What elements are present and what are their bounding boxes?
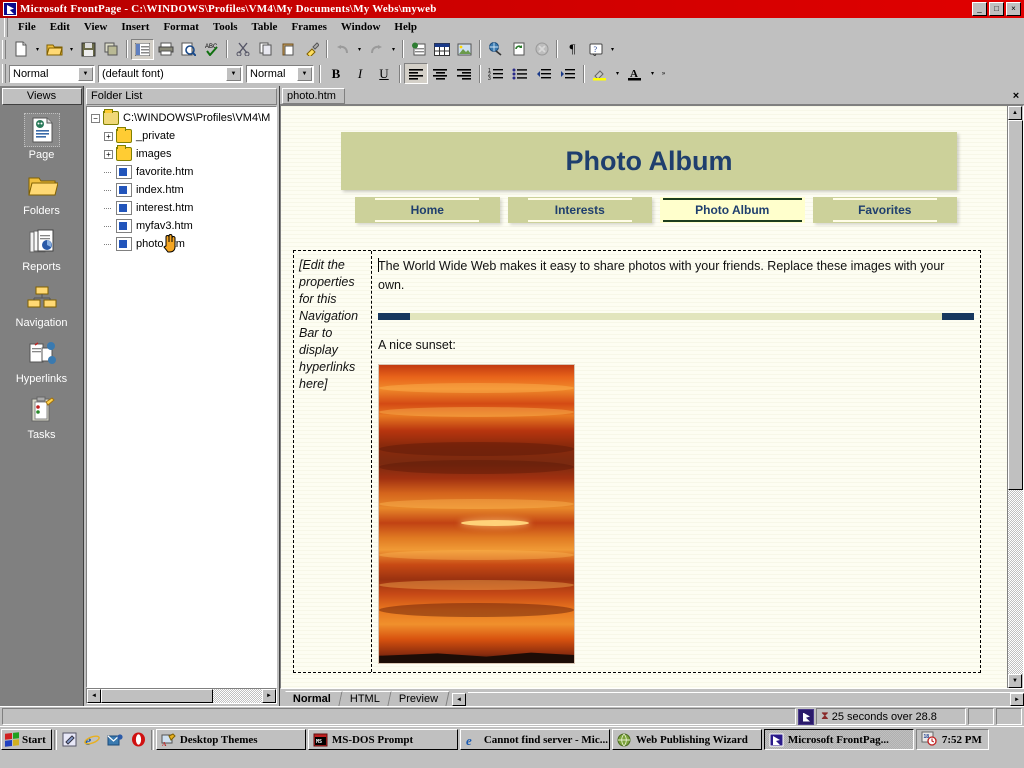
chevron-down-icon[interactable]: ▼: [297, 67, 312, 81]
tree-label: interest.htm: [136, 202, 193, 214]
wizard-icon: [617, 733, 632, 747]
italic-button[interactable]: I: [348, 63, 372, 84]
tab-scroll-left-button[interactable]: ◄: [452, 693, 466, 706]
expand-toggle-icon[interactable]: +: [104, 150, 113, 159]
tree-label: favorite.htm: [136, 166, 193, 178]
folder-list-hscrollbar[interactable]: ◄ ►: [86, 688, 277, 704]
title-bar: Microsoft FrontPage - C:\WINDOWS\Profile…: [0, 0, 1024, 18]
internet-explorer-icon[interactable]: e: [82, 729, 103, 750]
refresh-button[interactable]: [507, 39, 530, 60]
save-button[interactable]: [77, 39, 100, 60]
collapse-toggle-icon[interactable]: −: [91, 114, 100, 123]
scheduler-icon[interactable]: 18: [921, 731, 937, 749]
taskbar-item-label: MS-DOS Prompt: [332, 734, 413, 746]
standard-toolbar-grip[interactable]: [2, 40, 6, 59]
publish-web-button[interactable]: [100, 39, 123, 60]
new-page-dropdown-icon[interactable]: ▾: [32, 39, 43, 60]
tasks-view-icon: [24, 393, 60, 427]
scroll-thumb[interactable]: [101, 689, 213, 703]
toolbar-separator-5: [479, 40, 481, 58]
menu-bar: File Edit View Insert Format Tools Table…: [0, 18, 1024, 37]
sidebar-item-label: Navigation: [16, 317, 68, 329]
expand-toggle-icon[interactable]: +: [104, 132, 113, 141]
tab-label: Preview: [399, 693, 438, 705]
folder-list-header: Folder List: [86, 88, 277, 105]
svg-text:e: e: [466, 733, 472, 747]
font-color-button[interactable]: A: [623, 63, 647, 84]
decrease-indent-button[interactable]: [532, 63, 556, 84]
menu-item-file[interactable]: File: [11, 19, 43, 35]
tab-bar-filler: ►: [468, 692, 1024, 706]
toolbar-separator: [126, 40, 128, 58]
show-desktop-icon[interactable]: [59, 729, 80, 750]
page-layout-table: [Edit the properties for this Navigation…: [293, 250, 981, 673]
insert-table-button[interactable]: [430, 39, 453, 60]
start-button[interactable]: Start: [1, 729, 52, 750]
format-separator-3: [479, 65, 481, 83]
tab-preview[interactable]: Preview: [388, 691, 449, 706]
main-area: Views Page Folders Reports Navigation: [0, 86, 1024, 706]
menu-grip[interactable]: [4, 18, 8, 37]
maximize-button[interactable]: □: [989, 2, 1004, 16]
document-tab-bar: photo.htm ×: [280, 88, 1024, 105]
themes-icon: A: [161, 733, 176, 747]
tree-label: _private: [136, 130, 175, 142]
align-right-button[interactable]: [452, 63, 476, 84]
tree-connector: [104, 172, 112, 173]
html-page-icon: [116, 201, 132, 215]
redo-dropdown-icon[interactable]: ▾: [388, 39, 399, 60]
taskbar-item-label: Cannot find server - Mic...: [484, 734, 608, 746]
document-body: Photo Album Home Interests Photo Album F…: [280, 105, 1024, 689]
navigation-bar-placeholder-cell[interactable]: [Edit the properties for this Navigation…: [294, 251, 372, 672]
scroll-track[interactable]: [213, 689, 262, 703]
format-separator-2: [399, 65, 401, 83]
page-banner[interactable]: Photo Album: [341, 132, 957, 190]
views-bar-header: Views: [2, 88, 82, 105]
close-button[interactable]: ×: [1006, 2, 1021, 16]
insert-component-button[interactable]: [407, 39, 430, 60]
underline-label: U: [379, 66, 388, 82]
navigation-view-icon: [24, 281, 60, 315]
status-bar: ⧗ 25 seconds over 28.8: [0, 706, 1024, 726]
page-intro-paragraph[interactable]: The World Wide Web makes it easy to shar…: [378, 257, 974, 295]
stop-button[interactable]: [530, 39, 553, 60]
page-main-cell[interactable]: The World Wide Web makes it easy to shar…: [372, 251, 980, 672]
format-painter-button[interactable]: [300, 39, 323, 60]
tree-connector: [104, 190, 112, 191]
help-button[interactable]: ?: [584, 39, 607, 60]
scroll-thumb[interactable]: [1008, 120, 1023, 490]
taskbar-item-label: Microsoft FrontPag...: [788, 734, 889, 746]
font-combo[interactable]: (default font) ▼: [98, 65, 243, 83]
svg-text:MS: MS: [316, 739, 322, 745]
open-folder-icon: [103, 111, 119, 125]
page-navigation-bar: Home Interests Photo Album Favorites: [355, 197, 957, 223]
menu-item-format[interactable]: Format: [156, 19, 205, 35]
svg-text:?: ?: [593, 45, 597, 54]
hourglass-icon: ⧗: [821, 710, 829, 723]
frontpage-icon: [798, 709, 814, 725]
scroll-left-arrow[interactable]: ◄: [87, 689, 101, 703]
show-all-button[interactable]: ¶: [561, 39, 584, 60]
folders-view-icon: [24, 169, 60, 203]
document-vscrollbar[interactable]: ▲ ▼: [1007, 106, 1023, 688]
hyperlinks-view-icon: [24, 337, 60, 371]
tree-row-index-htm[interactable]: index.htm: [87, 181, 276, 199]
photo-caption: A nice sunset:: [378, 338, 974, 352]
hr-middle: [410, 313, 942, 320]
format-separator-4: [583, 65, 585, 83]
hr-right-cap: [942, 313, 974, 320]
format-separator-1: [319, 65, 321, 83]
outlook-express-icon[interactable]: [105, 729, 126, 750]
italic-label: I: [358, 66, 362, 82]
nav-button-interests[interactable]: Interests: [508, 197, 653, 223]
scroll-right-arrow[interactable]: ►: [262, 689, 276, 703]
insert-picture-button[interactable]: [453, 39, 476, 60]
font-size-combo-value: Normal: [250, 68, 285, 80]
menu-item-window[interactable]: Window: [334, 19, 388, 35]
tree-row-private[interactable]: + _private: [87, 127, 276, 145]
highlight-dropdown-icon[interactable]: ▾: [612, 63, 623, 84]
sidebar-item-hyperlinks[interactable]: Hyperlinks: [2, 337, 82, 385]
folder-list-tree[interactable]: − C:\WINDOWS\Profiles\VM4\M + _private +…: [86, 106, 277, 688]
nav-button-favorites[interactable]: Favorites: [813, 197, 958, 223]
svg-text:3: 3: [488, 76, 491, 80]
msdos-icon: MS: [313, 733, 328, 747]
chevron-down-icon[interactable]: ▼: [78, 67, 93, 81]
numbered-list-button[interactable]: 123: [484, 63, 508, 84]
formatting-toolbar-grip[interactable]: [2, 64, 6, 83]
sidebar-item-navigation[interactable]: Navigation: [2, 281, 82, 329]
view-tab-bar: Normal HTML Preview ◄ ►: [280, 689, 1024, 706]
print-button[interactable]: [154, 39, 177, 60]
tab-html[interactable]: HTML: [339, 691, 391, 706]
tree-connector: [104, 244, 112, 245]
sun-streak: [461, 520, 529, 526]
tab-normal[interactable]: Normal: [282, 691, 342, 706]
help-dropdown-icon[interactable]: ▾: [607, 39, 618, 60]
scroll-track[interactable]: [1008, 490, 1023, 674]
frontpage-icon: [769, 733, 784, 747]
window-title: Microsoft FrontPage - C:\WINDOWS\Profile…: [20, 3, 972, 15]
sidebar-item-label: Tasks: [27, 429, 55, 441]
taskbar-item-desktop-themes[interactable]: A Desktop Themes: [156, 729, 306, 750]
folder-list-toggle-button[interactable]: [131, 39, 154, 60]
folder-icon: [116, 147, 132, 161]
views-bar: Views Page Folders Reports Navigation: [0, 86, 84, 706]
tree-connector: [104, 226, 112, 227]
standard-toolbar: ▾ ▾ ABC ▾ ▾: [0, 37, 1024, 61]
document-pane: photo.htm × Photo Album Home Interests: [280, 86, 1024, 706]
sidebar-item-page[interactable]: Page: [2, 113, 82, 161]
sidebar-item-folders[interactable]: Folders: [2, 169, 82, 217]
nav-button-home[interactable]: Home: [355, 197, 500, 223]
bold-label: B: [332, 66, 341, 82]
html-page-icon: [116, 219, 132, 233]
page-banner-title: Photo Album: [566, 146, 733, 177]
copy-button[interactable]: [254, 39, 277, 60]
undo-dropdown-icon[interactable]: ▾: [354, 39, 365, 60]
start-button-label: Start: [22, 734, 46, 746]
increase-indent-button[interactable]: [556, 63, 580, 84]
tree-row-photo-htm[interactable]: photo.htm: [87, 235, 276, 253]
style-combo[interactable]: Normal ▼: [9, 65, 95, 83]
pilcrow-icon: ¶: [570, 41, 576, 57]
taskbar-item-microsoft-frontpage[interactable]: Microsoft FrontPag...: [764, 729, 914, 750]
menu-item-help[interactable]: Help: [387, 19, 424, 35]
new-page-button[interactable]: [9, 39, 32, 60]
download-time-text: 25 seconds over 28.8: [832, 711, 937, 723]
status-message-panel: [2, 708, 796, 725]
download-time-panel[interactable]: ⧗ 25 seconds over 28.8: [816, 708, 966, 725]
page-intro-text: The World Wide Web makes it easy to shar…: [378, 259, 944, 292]
menu-item-view[interactable]: View: [77, 19, 114, 35]
nav-button-photo-album[interactable]: Photo Album: [660, 197, 805, 223]
svg-text:A: A: [162, 742, 167, 747]
sidebar-item-label: Page: [29, 149, 55, 161]
system-tray: 18 7:52 PM: [916, 729, 989, 750]
taskbar-separator-2: [151, 730, 154, 750]
sidebar-item-tasks[interactable]: Tasks: [2, 393, 82, 441]
sidebar-item-reports[interactable]: Reports: [2, 225, 82, 273]
tree-label: images: [136, 148, 171, 160]
nav-button-label: Home: [411, 203, 444, 217]
menu-item-tools[interactable]: Tools: [206, 19, 245, 35]
tab-label: HTML: [350, 693, 380, 705]
bold-button[interactable]: B: [324, 63, 348, 84]
status-panel-extra-2: [996, 708, 1022, 725]
open-button[interactable]: [43, 39, 66, 60]
horizontal-rule: [378, 313, 974, 320]
status-panel-extra-1: [968, 708, 994, 725]
clock[interactable]: 7:52 PM: [942, 734, 982, 746]
redo-button[interactable]: [365, 39, 388, 60]
page-canvas[interactable]: Photo Album Home Interests Photo Album F…: [281, 106, 1007, 688]
frontpage-icon: [3, 2, 17, 16]
sunset-photo[interactable]: [378, 364, 575, 664]
tree-row-favorite-htm[interactable]: favorite.htm: [87, 163, 276, 181]
taskbar-item-label: Web Publishing Wizard: [636, 734, 748, 746]
menu-item-frames[interactable]: Frames: [284, 19, 333, 35]
window-controls: _ □ ×: [972, 2, 1023, 16]
tree-label-root: C:\WINDOWS\Profiles\VM4\M: [123, 112, 270, 124]
tree-connector: [104, 208, 112, 209]
sidebar-item-label: Reports: [22, 261, 61, 273]
tree-row-images[interactable]: + images: [87, 145, 276, 163]
paste-button[interactable]: [277, 39, 300, 60]
sidebar-item-label: Folders: [23, 205, 60, 217]
font-color-dropdown-icon[interactable]: ▾: [647, 63, 658, 84]
tree-label: index.htm: [136, 184, 184, 196]
taskbar: Start e A Desktop Themes MS MS-DOS Promp…: [0, 726, 1024, 752]
menu-item-edit[interactable]: Edit: [43, 19, 77, 35]
minimize-button[interactable]: _: [972, 2, 987, 16]
font-size-combo[interactable]: Normal ▼: [246, 65, 314, 83]
tree-row-myfav3-htm[interactable]: myfav3.htm: [87, 217, 276, 235]
close-document-button[interactable]: ×: [1008, 90, 1024, 102]
page-view-icon: [24, 113, 60, 147]
style-combo-value: Normal: [13, 68, 48, 80]
menu-item-insert[interactable]: Insert: [114, 19, 156, 35]
hand-cursor-icon: [161, 233, 179, 253]
opera-icon[interactable]: [128, 729, 149, 750]
html-page-icon: [116, 165, 132, 179]
highlight-color-button[interactable]: [588, 63, 612, 84]
toolbar-separator-6: [556, 40, 558, 58]
more-buttons-icon[interactable]: »: [658, 63, 669, 84]
align-left-button[interactable]: [404, 63, 428, 84]
horizon-silhouette: [379, 647, 574, 663]
formatting-toolbar: Normal ▼ (default font) ▼ Normal ▼ B I U…: [0, 61, 1024, 86]
taskbar-item-cannot-find-server[interactable]: e Cannot find server - Mic...: [460, 729, 610, 750]
folder-icon: [116, 129, 132, 143]
open-dropdown-icon[interactable]: ▾: [66, 39, 77, 60]
nav-button-label: Favorites: [858, 203, 911, 217]
toolbar-separator-2: [226, 40, 228, 58]
nav-button-label: Interests: [555, 203, 605, 217]
document-tab-photo-htm[interactable]: photo.htm: [282, 88, 345, 104]
folder-list-pane: Folder List − C:\WINDOWS\Profiles\VM4\M …: [84, 86, 280, 706]
cut-button[interactable]: [231, 39, 254, 60]
chevron-down-icon[interactable]: ▼: [226, 67, 241, 81]
sidebar-item-label: Hyperlinks: [16, 373, 67, 385]
spelling-button[interactable]: ABC: [200, 39, 223, 60]
font-combo-value: (default font): [102, 68, 164, 80]
taskbar-item-web-publishing-wizard[interactable]: Web Publishing Wizard: [612, 729, 762, 750]
taskbar-item-label: Desktop Themes: [180, 734, 258, 746]
print-preview-button[interactable]: [177, 39, 200, 60]
hr-left-cap: [378, 313, 410, 320]
navigation-bar-placeholder-text: [Edit the properties for this Navigation…: [299, 258, 358, 391]
toolbar-separator-4: [402, 40, 404, 58]
taskbar-separator-1: [54, 730, 57, 750]
tree-label: myfav3.htm: [136, 220, 193, 232]
tree-row-interest-htm[interactable]: interest.htm: [87, 199, 276, 217]
insert-hyperlink-button[interactable]: [484, 39, 507, 60]
tab-scroll-right-button[interactable]: ►: [1010, 693, 1024, 706]
nav-button-label: Photo Album: [695, 203, 769, 217]
taskbar-item-msdos-prompt[interactable]: MS MS-DOS Prompt: [308, 729, 458, 750]
align-center-button[interactable]: [428, 63, 452, 84]
underline-button[interactable]: U: [372, 63, 396, 84]
scroll-down-arrow[interactable]: ▼: [1008, 674, 1022, 688]
undo-button[interactable]: [331, 39, 354, 60]
tab-label: Normal: [293, 693, 331, 705]
bulleted-list-button[interactable]: [508, 63, 532, 84]
windows-flag-icon: [5, 732, 19, 746]
internet-explorer-icon: e: [465, 733, 480, 747]
html-page-icon: [116, 183, 132, 197]
scroll-up-arrow[interactable]: ▲: [1008, 106, 1022, 120]
reports-view-icon: [24, 225, 60, 259]
toolbar-separator-3: [326, 40, 328, 58]
tree-row-root[interactable]: − C:\WINDOWS\Profiles\VM4\M: [87, 109, 276, 127]
html-page-icon: [116, 237, 132, 251]
menu-item-table[interactable]: Table: [245, 19, 285, 35]
